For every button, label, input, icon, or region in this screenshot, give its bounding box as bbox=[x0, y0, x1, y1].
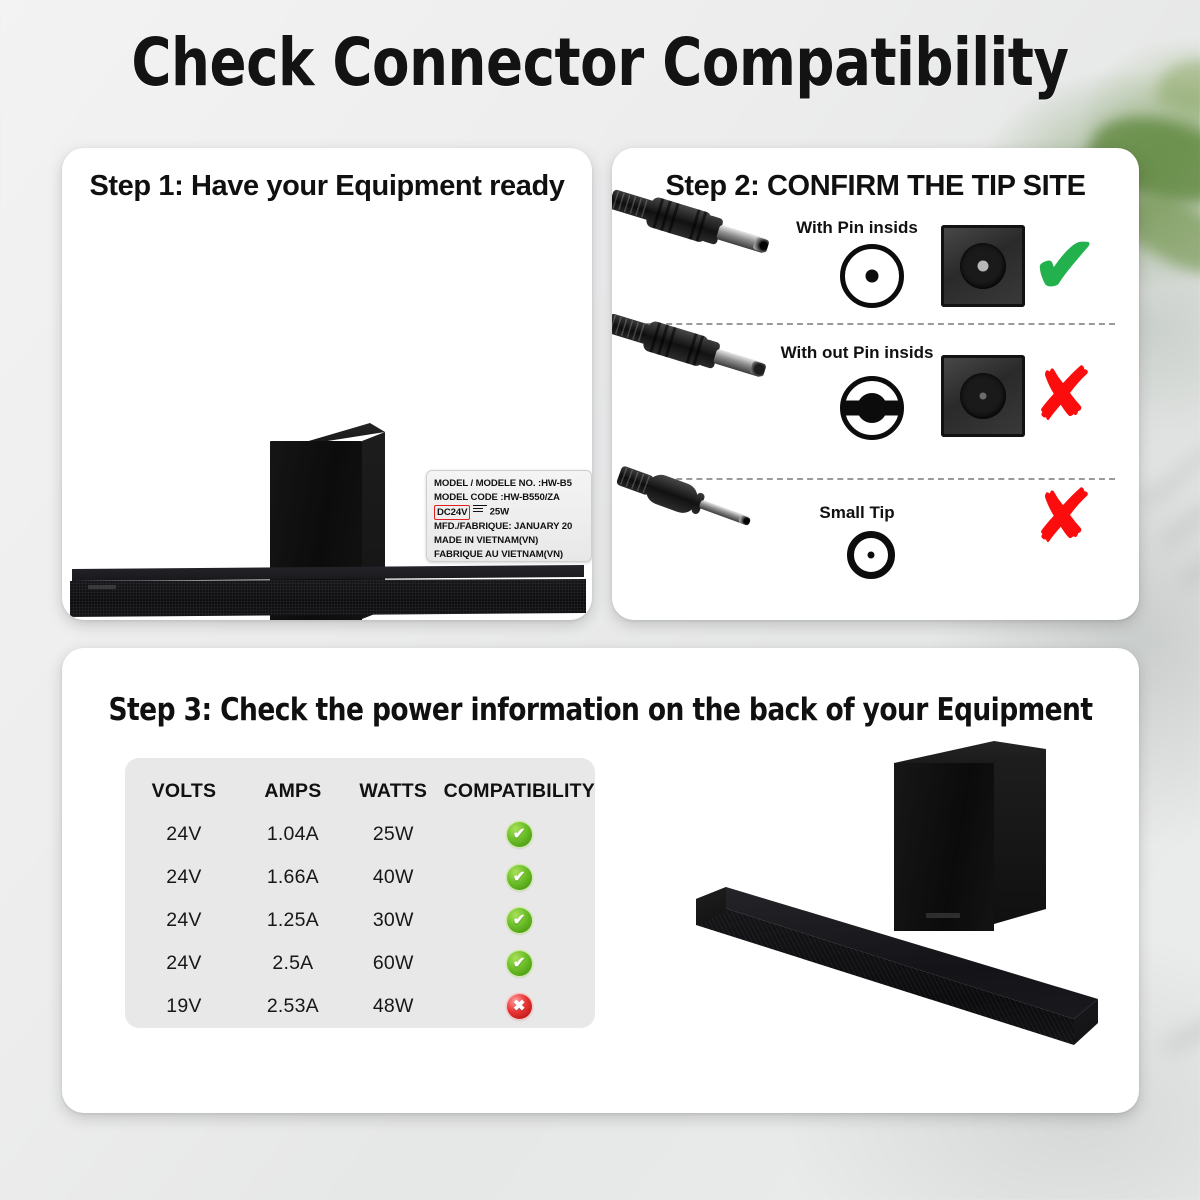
dc-voltage-highlight: DC24V bbox=[434, 505, 470, 521]
small-barrel-plug-icon bbox=[612, 452, 778, 554]
tip-row-label: Small Tip bbox=[757, 503, 957, 523]
blur-streak bbox=[1161, 920, 1200, 1056]
compatible-check-icon: ✔ bbox=[507, 908, 532, 933]
power-spec-table-panel: VOLTS AMPS WATTS COMPATIBILITY 24V 1.04A… bbox=[125, 758, 595, 1028]
spec-label-image: MODEL / MODELE NO. :HW-B5 MODEL CODE :HW… bbox=[426, 470, 592, 562]
soundbar-image bbox=[70, 565, 586, 620]
spec-line-mfd: MFD./FABRIQUE: JANUARY 20 bbox=[434, 520, 591, 534]
spec-line-model: MODEL / MODELE NO. :HW-B5 bbox=[434, 477, 591, 491]
step-3-heading: Step 3: Check the power information on t… bbox=[89, 692, 1112, 728]
soundbar-top-face bbox=[72, 565, 584, 581]
cell-compatibility: ✔ bbox=[444, 856, 595, 899]
cell-amps: 1.04A bbox=[243, 813, 343, 856]
table-row: 24V 1.66A 40W ✔ bbox=[125, 856, 595, 899]
step-1-card: Step 1: Have your Equipment ready MODEL … bbox=[62, 148, 592, 620]
dc-symbol-icon bbox=[473, 503, 487, 514]
cell-volts: 19V bbox=[125, 985, 243, 1028]
spec-line-model-code: MODEL CODE :HW-B550/ZA bbox=[434, 491, 591, 505]
leaf-shape bbox=[1155, 49, 1200, 126]
column-header-volts: VOLTS bbox=[125, 758, 243, 813]
compatible-check-icon: ✔ bbox=[507, 951, 532, 976]
jack-socket-without-pin-photo bbox=[941, 355, 1025, 437]
cell-amps: 2.5A bbox=[243, 942, 343, 985]
spec-line-made-in: MADE IN VIETNAM(VN) bbox=[434, 534, 591, 548]
step-3-card: Step 3: Check the power information on t… bbox=[62, 648, 1139, 1113]
cell-volts: 24V bbox=[125, 856, 243, 899]
cell-amps: 1.25A bbox=[243, 899, 343, 942]
blur-streak bbox=[1139, 364, 1200, 510]
barrel-plug-without-pin-icon bbox=[612, 300, 782, 399]
step-1-product-scene: MODEL / MODELE NO. :HW-B5 MODEL CODE :HW… bbox=[62, 208, 592, 618]
cross-mark-icon: ✘ bbox=[1032, 480, 1094, 554]
column-header-watts: WATTS bbox=[343, 758, 444, 813]
cell-watts: 60W bbox=[343, 942, 444, 985]
cell-amps: 1.66A bbox=[243, 856, 343, 899]
ring-with-center-bar-icon bbox=[840, 376, 904, 440]
table-header-row: VOLTS AMPS WATTS COMPATIBILITY bbox=[125, 758, 595, 813]
cross-mark-icon: ✘ bbox=[1032, 358, 1094, 432]
spec-line-fabrique: FABRIQUE AU VIETNAM(VN) bbox=[434, 548, 591, 562]
compatible-check-icon: ✔ bbox=[507, 865, 532, 890]
step-2-card: Step 2: CONFIRM THE TIP SITE With Pin in… bbox=[612, 148, 1139, 620]
tip-row-label: With Pin insids bbox=[757, 218, 957, 238]
row-divider bbox=[636, 323, 1115, 325]
cell-amps: 2.53A bbox=[243, 985, 343, 1028]
page-title: Check Connector Compatibility bbox=[48, 24, 1152, 101]
cell-watts: 25W bbox=[343, 813, 444, 856]
spec-watts: 25W bbox=[490, 507, 509, 518]
step-1-heading: Step 1: Have your Equipment ready bbox=[62, 170, 592, 203]
cell-compatibility: ✔ bbox=[444, 942, 595, 985]
soundbar-angled-image bbox=[678, 881, 1098, 1051]
soundbar-grille bbox=[70, 579, 586, 617]
cell-compatibility: ✔ bbox=[444, 813, 595, 856]
ring-with-center-pin-icon bbox=[840, 244, 904, 308]
column-header-compatibility: COMPATIBILITY bbox=[444, 758, 595, 813]
incompatible-cross-icon: ✖ bbox=[507, 994, 532, 1019]
table-row: 24V 1.04A 25W ✔ bbox=[125, 813, 595, 856]
compatible-check-icon: ✔ bbox=[507, 822, 532, 847]
jack-socket-with-pin-photo bbox=[941, 225, 1025, 307]
cell-volts: 24V bbox=[125, 899, 243, 942]
check-mark-icon: ✔ bbox=[1032, 226, 1097, 304]
column-header-amps: AMPS bbox=[243, 758, 343, 813]
cell-watts: 48W bbox=[343, 985, 444, 1028]
cell-compatibility: ✖ bbox=[444, 985, 595, 1028]
cell-volts: 24V bbox=[125, 813, 243, 856]
table-row: 19V 2.53A 48W ✖ bbox=[125, 985, 595, 1028]
spec-line-power: DC24V 25W bbox=[434, 504, 591, 520]
table-row: 24V 2.5A 60W ✔ bbox=[125, 942, 595, 985]
cell-watts: 30W bbox=[343, 899, 444, 942]
brand-logo bbox=[88, 585, 116, 589]
step-3-product-scene bbox=[672, 733, 1132, 1063]
cell-compatibility: ✔ bbox=[444, 899, 595, 942]
small-ring-with-dot-icon bbox=[847, 531, 895, 579]
cell-watts: 40W bbox=[343, 856, 444, 899]
table-row: 24V 1.25A 30W ✔ bbox=[125, 899, 595, 942]
power-spec-table: VOLTS AMPS WATTS COMPATIBILITY 24V 1.04A… bbox=[125, 758, 595, 1028]
tip-row-label: With out Pin insids bbox=[757, 343, 957, 363]
cell-volts: 24V bbox=[125, 942, 243, 985]
